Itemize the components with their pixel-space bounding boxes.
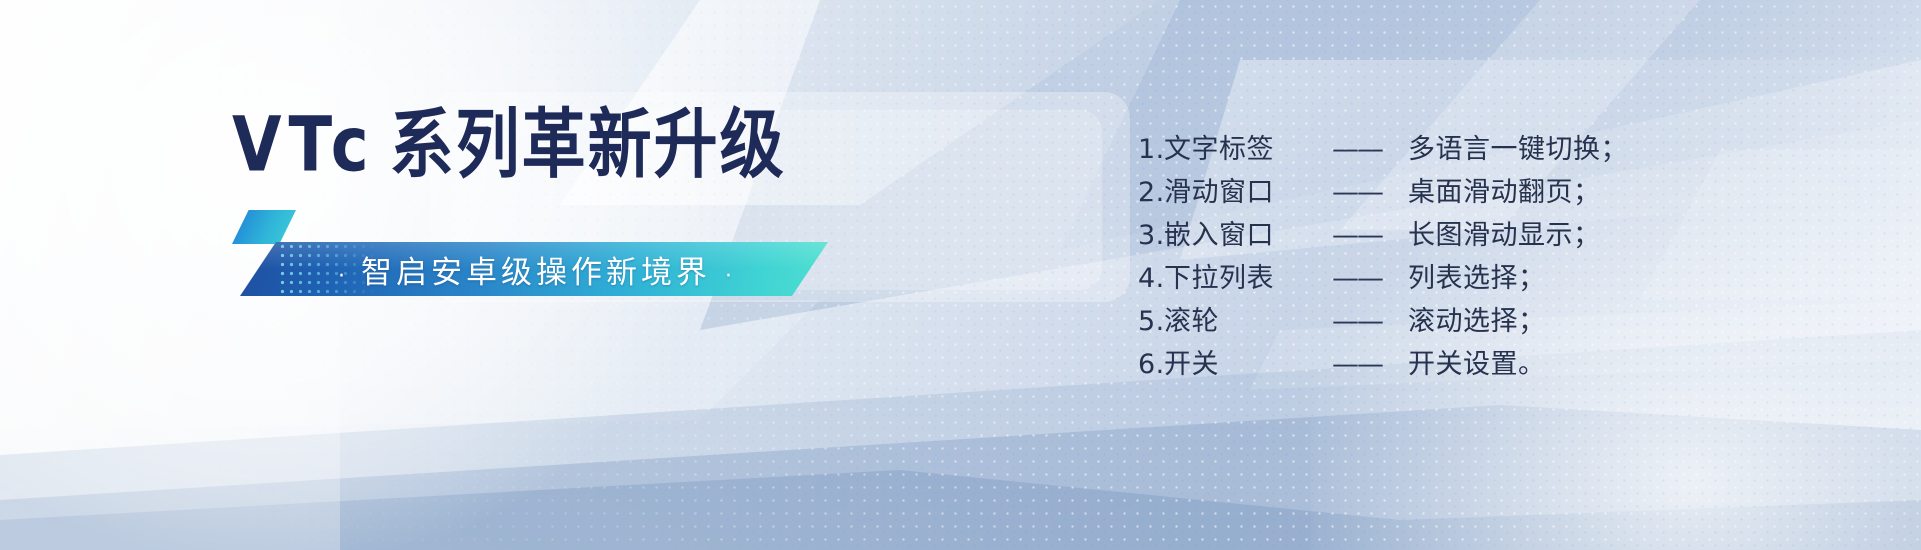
- promo-banner: VTc系列革新升级 ·智启安卓级操作新境界· 1. 文字标签 —— 多语言一键切…: [0, 0, 1921, 550]
- list-item-index: 5.: [1138, 300, 1164, 343]
- list-item-name: 文字标签: [1164, 128, 1332, 171]
- bullet-dot-leading-icon: ·: [338, 266, 349, 288]
- subtitle-line: ·智启安卓级操作新境界·: [338, 247, 736, 292]
- list-item-index: 4.: [1138, 257, 1164, 300]
- list-item-dash: ——: [1332, 257, 1408, 300]
- list-item-name: 下拉列表: [1164, 257, 1332, 300]
- list-item-dash: ——: [1332, 171, 1408, 214]
- headline-block: VTc系列革新升级 ·智启安卓级操作新境界·: [232, 108, 872, 296]
- list-item: 6. 开关 —— 开关设置。: [1138, 343, 1628, 386]
- list-item-desc: 长图滑动显示；: [1408, 214, 1601, 257]
- list-item-name: 开关: [1164, 343, 1332, 386]
- list-item-desc: 滚动选择；: [1408, 300, 1546, 343]
- title-cjk: 系列革新升级: [390, 102, 786, 189]
- list-item-name: 滚轮: [1164, 300, 1332, 343]
- list-item-dash: ——: [1332, 343, 1408, 386]
- bullet-dot-trailing-icon: ·: [725, 266, 736, 288]
- list-item: 2. 滑动窗口 —— 桌面滑动翻页；: [1138, 171, 1628, 214]
- list-item-dash: ——: [1332, 300, 1408, 343]
- list-item: 4. 下拉列表 —— 列表选择；: [1138, 257, 1628, 300]
- list-item: 3. 嵌入窗口 —— 长图滑动显示；: [1138, 214, 1628, 257]
- list-item-name: 滑动窗口: [1164, 171, 1332, 214]
- list-item-index: 6.: [1138, 343, 1164, 386]
- list-item-dash: ——: [1332, 128, 1408, 171]
- feature-list: 1. 文字标签 —— 多语言一键切换； 2. 滑动窗口 —— 桌面滑动翻页； 3…: [1138, 128, 1628, 386]
- page-title: VTc系列革新升级: [232, 108, 872, 184]
- list-item-index: 2.: [1138, 171, 1164, 214]
- list-item-desc: 多语言一键切换；: [1408, 128, 1628, 171]
- list-item-desc: 列表选择；: [1408, 257, 1546, 300]
- list-item-index: 1.: [1138, 128, 1164, 171]
- subtitle-text: 智启安卓级操作新境界: [361, 255, 711, 291]
- list-item: 1. 文字标签 —— 多语言一键切换；: [1138, 128, 1628, 171]
- list-item: 5. 滚轮 —— 滚动选择；: [1138, 300, 1628, 343]
- subtitle-ribbon: ·智启安卓级操作新境界·: [232, 234, 832, 296]
- ribbon-accent-shard: [232, 210, 296, 244]
- list-item-desc: 桌面滑动翻页；: [1408, 171, 1601, 214]
- ribbon-body: ·智启安卓级操作新境界·: [240, 242, 828, 296]
- title-latin: VTc: [232, 102, 376, 189]
- list-item-desc: 开关设置。: [1408, 343, 1546, 386]
- list-item-dash: ——: [1332, 214, 1408, 257]
- list-item-name: 嵌入窗口: [1164, 214, 1332, 257]
- list-item-index: 3.: [1138, 214, 1164, 257]
